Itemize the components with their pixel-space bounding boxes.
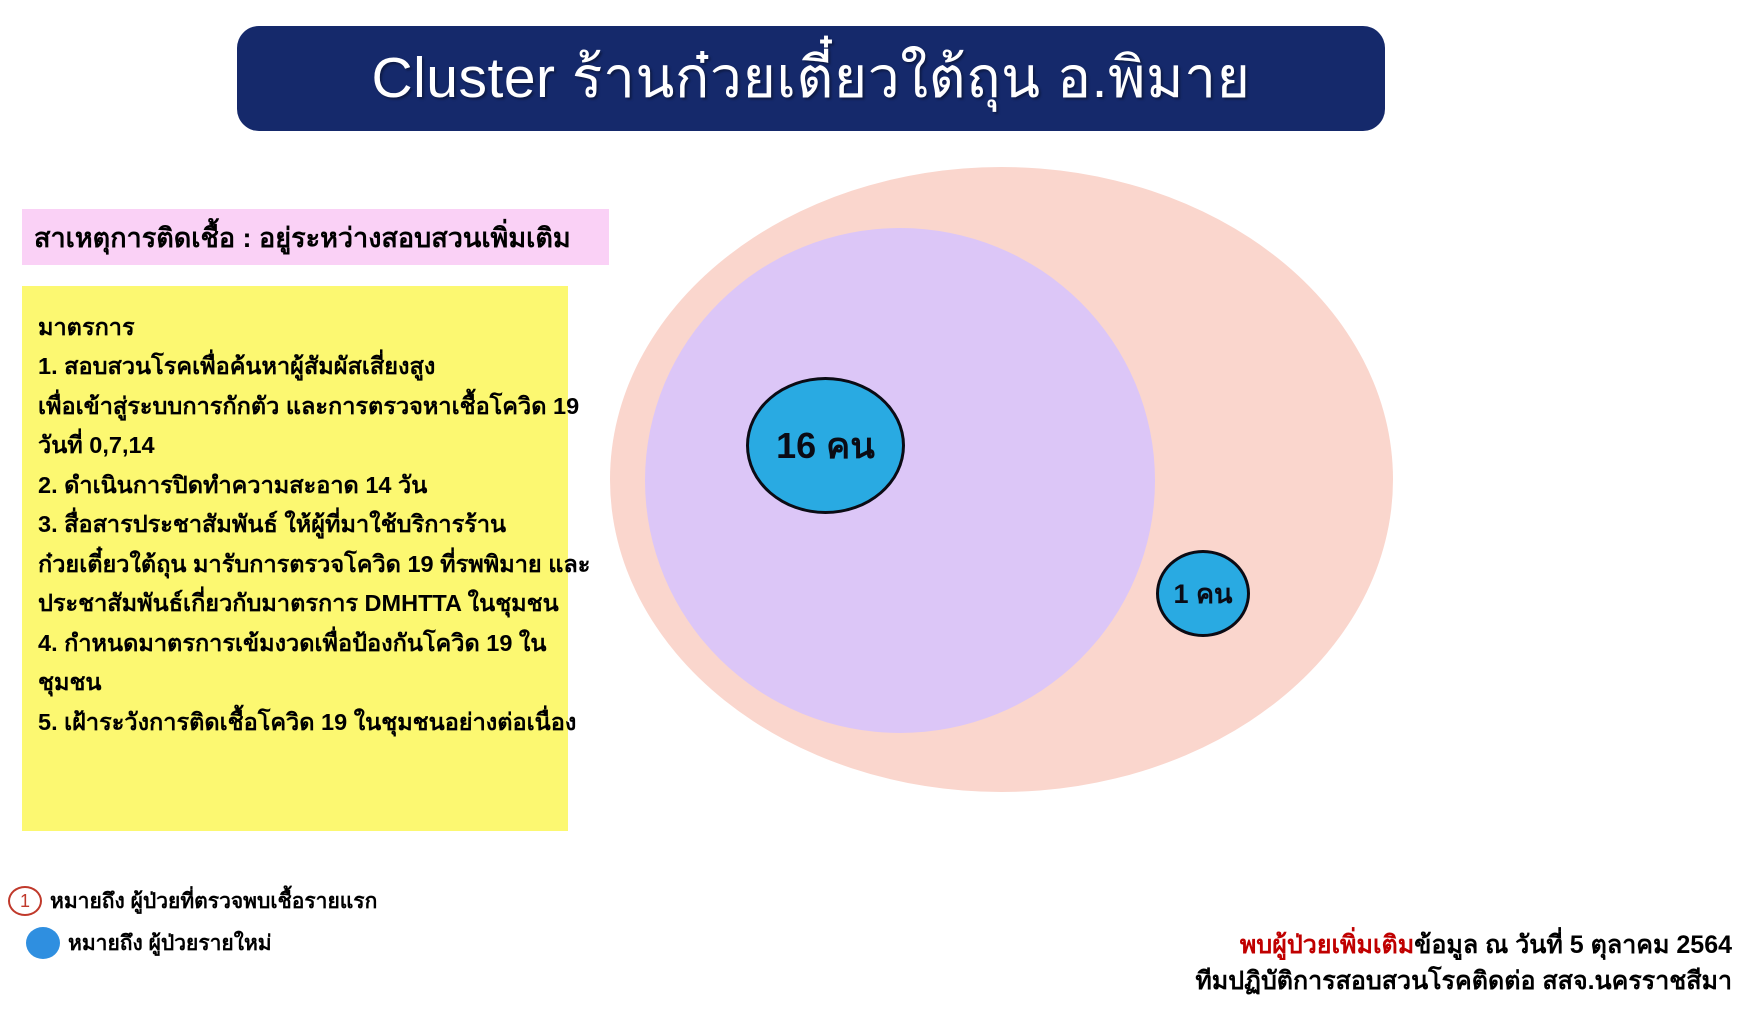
- inner-purple-circle: [645, 228, 1155, 733]
- legend-first-case-label: หมายถึง ผู้ป่วยที่ตรวจพบเชื้อรายแรก: [50, 885, 377, 918]
- legend-new-case-label: หมายถึง ผู้ป่วยรายใหม่: [68, 927, 272, 960]
- case-bubble-16-label: 16 คน: [776, 417, 875, 474]
- first-case-number: 1: [20, 892, 30, 910]
- legend: 1 หมายถึง ผู้ป่วยที่ตรวจพบเชื้อรายแรก หม…: [8, 882, 528, 962]
- cluster-venn-diagram: 16 คน 1 คน: [0, 0, 1754, 1033]
- case-bubble-1: 1 คน: [1156, 550, 1250, 637]
- footer: พบผู้ป่วยเพิ่มเติมข้อมูล ณ วันที่ 5 ตุลา…: [1012, 928, 1732, 999]
- legend-row-first-case: 1 หมายถึง ผู้ป่วยที่ตรวจพบเชื้อรายแรก: [8, 882, 528, 920]
- legend-row-new-case: หมายถึง ผู้ป่วยรายใหม่: [20, 924, 528, 962]
- footer-data-date-line: พบผู้ป่วยเพิ่มเติมข้อมูล ณ วันที่ 5 ตุลา…: [1012, 928, 1732, 964]
- first-case-circle-icon: 1: [8, 886, 42, 916]
- new-case-circle-icon: [26, 927, 60, 959]
- footer-new-cases-text: พบผู้ป่วยเพิ่มเติม: [1240, 931, 1414, 959]
- footer-team-text: ทีมปฏิบัติการสอบสวนโรคติดต่อ สสจ.นครราชส…: [1012, 964, 1732, 1000]
- footer-date-text: ข้อมูล ณ วันที่ 5 ตุลาคม 2564: [1414, 931, 1732, 959]
- case-bubble-1-label: 1 คน: [1173, 572, 1232, 615]
- case-bubble-16: 16 คน: [746, 377, 905, 514]
